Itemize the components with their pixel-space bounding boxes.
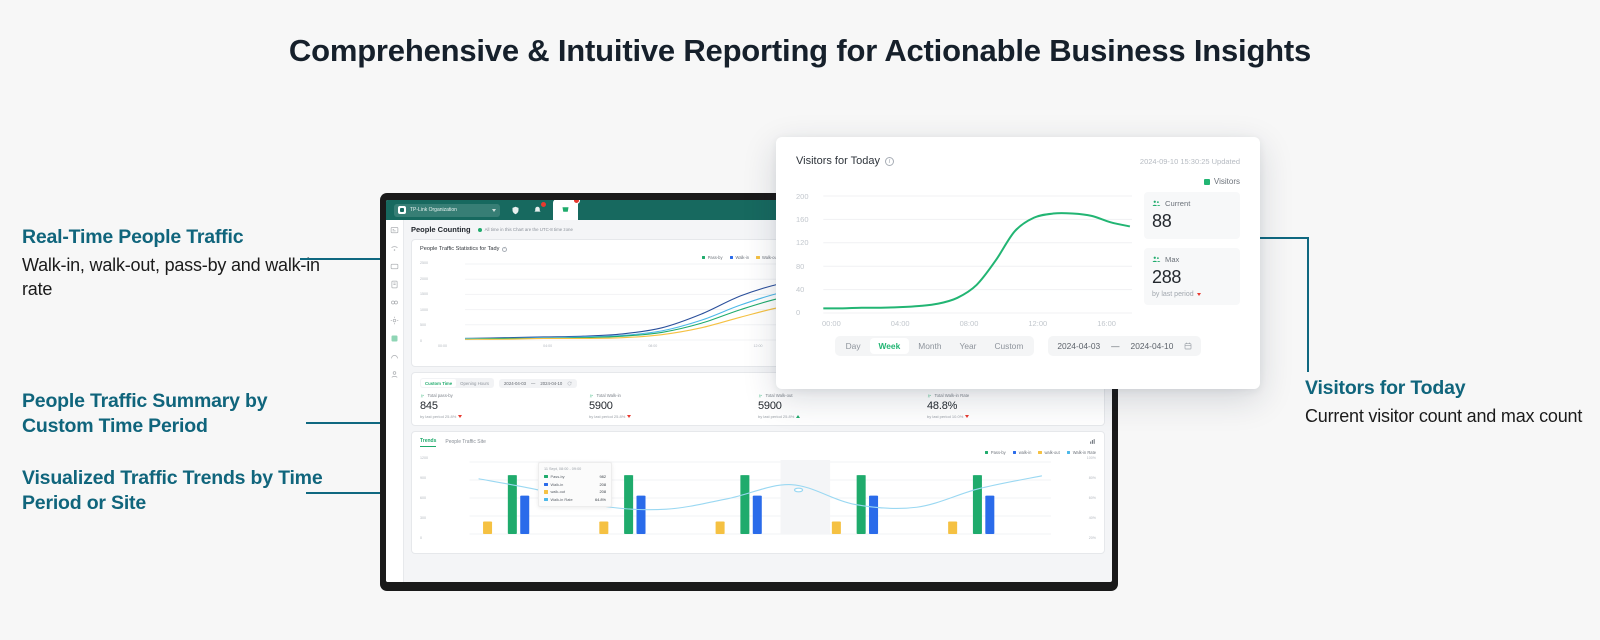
annotation-heading: Visitors for Today xyxy=(1305,376,1595,401)
notification-badge xyxy=(540,201,547,208)
sidebar-item-network[interactable] xyxy=(390,352,399,361)
summary-value: 5900 xyxy=(758,400,927,412)
annotation-visitors-for-today: Visitors for Today Current visitor count… xyxy=(1305,376,1595,428)
summary-value: 48.8% xyxy=(927,400,1096,412)
summary-cell-total-pass-by: Total pass-by 845 by last period 25.8% xyxy=(420,393,589,419)
summary-cell-total-walk-in-rate: Total Walk-in Rate 48.8% by last period … xyxy=(927,393,1096,419)
visitors-card-title-group: Visitors for Today i xyxy=(796,155,894,167)
annotation-real-time-people-traffic: Real-Time People Traffic Walk-in, walk-o… xyxy=(22,225,322,301)
legend-item: Pass-by xyxy=(985,450,1006,455)
visitors-range-tabs[interactable]: Day Week Month Year Custom xyxy=(835,336,1035,356)
date-start[interactable]: 2024-04-03 xyxy=(504,381,526,386)
trend-down-icon xyxy=(458,415,462,418)
timezone-note-text: All time in this Chart are the UTC-8 tim… xyxy=(485,227,573,232)
tab-trends[interactable]: Trends xyxy=(420,438,436,447)
legend-item: walk-out xyxy=(1038,450,1059,455)
organization-name: TP-Link Organization xyxy=(410,207,488,213)
visitors-legend: Visitors xyxy=(796,177,1240,186)
sidebar-item-dashboard[interactable] xyxy=(390,226,399,235)
sidebar xyxy=(386,220,404,582)
visitors-chart-svg xyxy=(796,192,1132,317)
annotation-visualized-traffic-trends: Visualized Traffic Trends by Time Period… xyxy=(22,466,332,516)
current-value: 88 xyxy=(1152,211,1232,232)
visitors-x-axis: 00:00 04:00 08:00 12:00 16:00 xyxy=(796,317,1116,328)
visitors-range-custom[interactable]: Custom xyxy=(985,338,1032,354)
annotation-heading: Visualized Traffic Trends by Time Period… xyxy=(22,466,332,516)
annotation-heading: People Traffic Summary by Custom Time Pe… xyxy=(22,389,332,439)
legend-item: Walk-out xyxy=(756,255,778,260)
tooltip-row: Walk-in Rate64.8% xyxy=(544,497,606,502)
status-dot-icon xyxy=(478,228,482,232)
tab-people-traffic-site[interactable]: People Traffic Site xyxy=(445,439,486,447)
page-heading: People Counting xyxy=(411,225,471,234)
tab-custom-time[interactable]: Custom Time xyxy=(421,379,456,387)
sidebar-item-people-counting[interactable] xyxy=(390,334,399,343)
card-title-group: People Traffic Statistics for Tady i xyxy=(420,246,507,252)
annotation-body: Current visitor count and max count xyxy=(1305,404,1595,428)
people-icon xyxy=(589,394,594,398)
summary-date-range[interactable]: 2024-04-03 — 2024-04-10 xyxy=(499,379,577,388)
trends-card: Trends People Traffic Site Pass-by walk-… xyxy=(411,431,1105,554)
tooltip-time: 11 Sept, 08:00 - 09:00 xyxy=(544,467,606,471)
trend-down-icon xyxy=(627,415,631,418)
bar-chart-icon[interactable] xyxy=(1089,438,1096,445)
trends-tabs: Trends People Traffic Site xyxy=(420,438,486,447)
sidebar-item-devices[interactable] xyxy=(390,262,399,271)
notification-icon[interactable] xyxy=(531,204,544,217)
annotation-body: Walk-in, walk-out, pass-by and walk-in r… xyxy=(22,253,322,301)
visitors-card-body: 200 160 120 80 40 0 Current 88 xyxy=(796,192,1240,317)
visitors-range-week[interactable]: Week xyxy=(870,338,910,354)
date-end[interactable]: 2024-04-10 xyxy=(540,381,562,386)
summary-cell-total-walk-in: Total Walk-in 5900 by last period 25.8% xyxy=(589,393,758,419)
visitors-card-header: Visitors for Today i 2024-09-10 15:30:25… xyxy=(796,155,1240,167)
trend-up-icon xyxy=(796,415,800,418)
visitors-range-day[interactable]: Day xyxy=(837,338,870,354)
organization-selector[interactable]: TP-Link Organization xyxy=(394,204,500,217)
chart-tooltip: 11 Sept, 08:00 - 09:00 Pass-by982 Walk-i… xyxy=(538,462,612,507)
visitors-date-start[interactable]: 2024-04-03 xyxy=(1057,341,1100,351)
visitors-card-title: Visitors for Today xyxy=(796,155,880,167)
visitors-for-today-card: Visitors for Today i 2024-09-10 15:30:25… xyxy=(776,137,1260,389)
trend-down-icon xyxy=(965,415,969,418)
trends-bar-chart: 1200 900 600 300 0 100% 80% 60% 40% xyxy=(420,456,1096,540)
legend-item: Pass-by xyxy=(702,255,723,260)
sidebar-item-account[interactable] xyxy=(390,370,399,379)
current-visitors-box: Current 88 xyxy=(1144,192,1240,239)
card-title: People Traffic Statistics for Tady xyxy=(420,246,499,252)
people-icon xyxy=(1152,256,1161,263)
visitors-date-range[interactable]: 2024-04-03 — 2024-04-10 xyxy=(1048,336,1201,356)
annotation-people-traffic-summary: People Traffic Summary by Custom Time Pe… xyxy=(22,389,332,439)
legend-item: Walk-in xyxy=(730,255,750,260)
summary-label: Total pass-by xyxy=(428,393,453,398)
trend-down-icon xyxy=(1197,293,1201,296)
time-mode-tabs[interactable]: Custom Time Opening Hours xyxy=(420,378,494,388)
trends-chart-svg xyxy=(420,456,1096,540)
legend-item: Walk-in Rate xyxy=(1067,450,1096,455)
visitors-range-year[interactable]: Year xyxy=(951,338,986,354)
tooltip-row: walk-out208 xyxy=(544,489,606,494)
summary-label: Total Walk-in xyxy=(597,393,621,398)
max-label: Max xyxy=(1165,255,1179,264)
legend-swatch xyxy=(1204,179,1210,185)
people-icon xyxy=(420,394,425,398)
trends-header: Trends People Traffic Site xyxy=(420,438,1096,447)
visitors-range-month[interactable]: Month xyxy=(909,338,950,354)
connector-line-right-vertical xyxy=(1307,237,1309,372)
sidebar-item-settings[interactable] xyxy=(390,316,399,325)
timezone-note: All time in this Chart are the UTC-8 tim… xyxy=(478,227,573,232)
alert-badge xyxy=(573,200,580,204)
connector-line-1 xyxy=(300,258,384,260)
summary-value: 845 xyxy=(420,400,589,412)
tab-opening-hours[interactable]: Opening Hours xyxy=(456,379,493,387)
visitors-stats: Current 88 Max 288 by last period xyxy=(1144,192,1240,317)
chevron-down-icon xyxy=(492,209,496,212)
current-label: Current xyxy=(1165,199,1190,208)
sidebar-item-insight[interactable] xyxy=(390,298,399,307)
people-icon xyxy=(1152,200,1161,207)
visitors-updated-timestamp: 2024-09-10 15:30:25 Updated xyxy=(1140,157,1240,166)
summary-value: 5900 xyxy=(589,400,758,412)
summary-cell-total-walk-out: Total Walk-out 5900 by last period 25.8% xyxy=(758,393,927,419)
alert-tab-active[interactable] xyxy=(553,200,578,220)
summary-label: Total Walk-in Rate xyxy=(935,393,970,398)
tooltip-row: Walk-in208 xyxy=(544,482,606,487)
trends-legend: Pass-by walk-in walk-out Walk-in Rate xyxy=(420,450,1096,455)
max-sub: by last period xyxy=(1152,291,1194,298)
info-icon[interactable]: i xyxy=(885,157,894,166)
people-icon xyxy=(927,394,932,398)
page-title: Comprehensive & Intuitive Reporting for … xyxy=(0,33,1600,69)
calendar-icon[interactable] xyxy=(1184,342,1192,350)
tooltip-row: Pass-by982 xyxy=(544,474,606,479)
legend-item-visitors: Visitors xyxy=(1204,177,1240,186)
sidebar-item-reports[interactable] xyxy=(390,280,399,289)
max-visitors-box: Max 288 by last period xyxy=(1144,248,1240,305)
annotation-heading: Real-Time People Traffic xyxy=(22,225,322,250)
tplink-logo-icon xyxy=(398,206,406,214)
refresh-icon[interactable] xyxy=(567,381,572,386)
summary-label: Total Walk-out xyxy=(766,393,793,398)
sidebar-item-wifi[interactable] xyxy=(390,244,399,253)
max-value: 288 xyxy=(1152,267,1232,288)
info-icon[interactable]: i xyxy=(502,247,507,252)
visitors-date-end[interactable]: 2024-04-10 xyxy=(1131,341,1174,351)
visitors-line-chart: 200 160 120 80 40 0 xyxy=(796,192,1132,317)
people-icon xyxy=(758,394,763,398)
visitors-card-footer: Day Week Month Year Custom 2024-04-03 — … xyxy=(796,336,1240,356)
legend-item: walk-in xyxy=(1013,450,1032,455)
shield-icon[interactable] xyxy=(509,204,522,217)
summary-stats-row: Total pass-by 845 by last period 25.8% T… xyxy=(420,393,1096,419)
